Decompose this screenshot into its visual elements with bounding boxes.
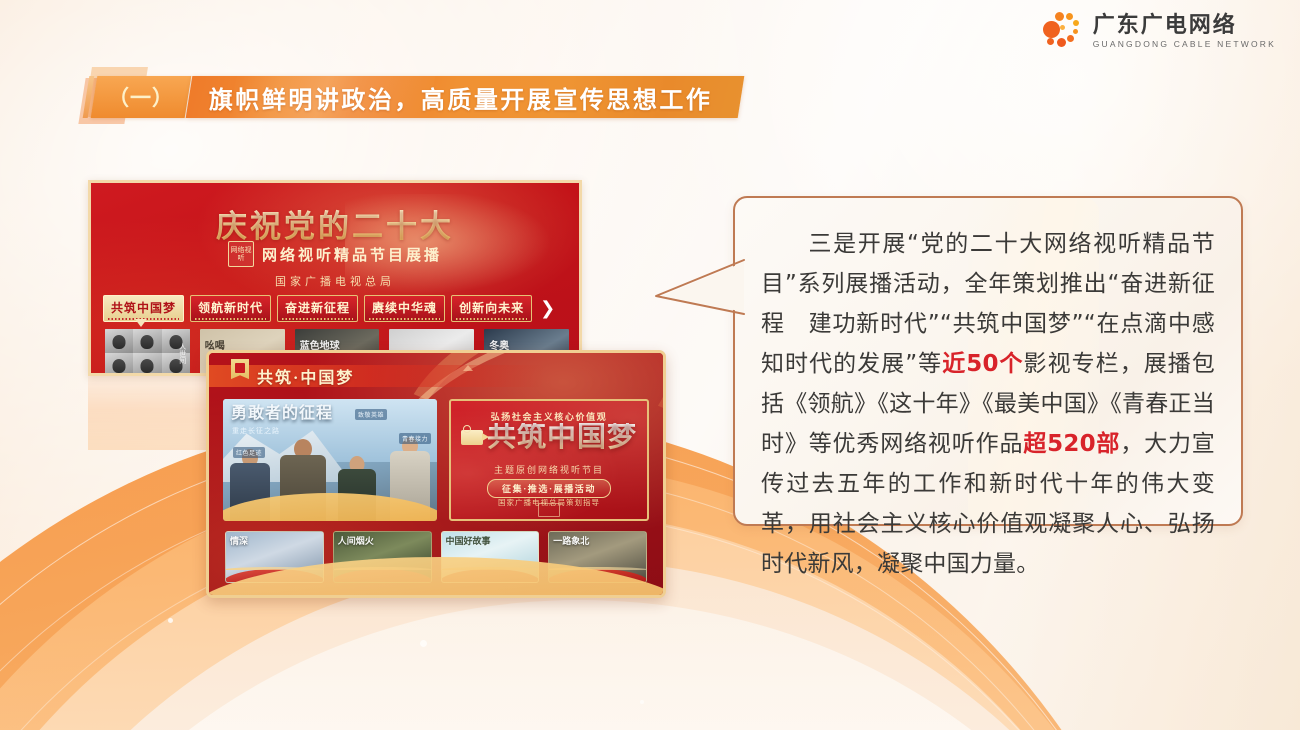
- callout-paragraph: 三是开展“党的二十大网络视听精品节目”系列展播活动，全年策划推出“奋进新征程 建…: [735, 198, 1241, 584]
- section-number-badge: （一）: [91, 76, 192, 118]
- tab-dot-underline: [195, 318, 266, 320]
- callout-box: 三是开展“党的二十大网络视听精品节目”系列展播活动，全年策划推出“奋进新征程 建…: [733, 196, 1243, 526]
- card-line-3: 主题原创网络视听节目: [451, 463, 647, 476]
- active-tab-caret-icon: [135, 319, 147, 327]
- tab-label: 共筑中国梦: [111, 301, 176, 315]
- thumbnail-title: 中国好故事: [446, 537, 491, 547]
- tab-dot-underline: [456, 318, 527, 320]
- tab-label: 奋进新征程: [285, 301, 350, 315]
- poster-subtitle: 重走长征之路: [232, 426, 280, 436]
- thumbnail-side-label: 人世间: [177, 332, 187, 374]
- tab-gengxu-zhonghuahun[interactable]: 赓续中华魂: [364, 295, 445, 322]
- tab-dot-underline: [282, 318, 353, 320]
- section-title-bar: 旗帜鲜明讲政治，高质量开展宣传思想工作: [186, 76, 744, 118]
- screenshot-front-header-title: 共筑·中国梦: [257, 364, 354, 388]
- screenshot-back-panel[interactable]: 庆祝党的二十大 网络视听 网络视听精品节目展播 国家广播电视总局 共筑中国梦 领…: [88, 180, 582, 376]
- logo-mark-icon: [1042, 10, 1084, 52]
- screenshot-back-organization: 国家广播电视总局: [91, 273, 579, 289]
- screenshot-back-subtitle: 网络视听精品节目展播: [262, 244, 442, 265]
- logo-text: 广东广电网络 GUANGDONG CABLE NETWORK: [1093, 14, 1276, 49]
- slide-canvas: 广东广电网络 GUANGDONG CABLE NETWORK （一） 旗帜鲜明讲…: [0, 0, 1300, 730]
- card-seal-icon: [538, 503, 560, 517]
- card-activity-pill: 征集·推选·展播活动: [487, 479, 611, 498]
- highlighted-figure: 近50个: [942, 351, 1023, 377]
- callout-pointer-tail: [652, 256, 738, 312]
- thumbnail-portrait-grid[interactable]: 人世间: [105, 329, 190, 376]
- background-spark-3: [640, 700, 644, 704]
- tab-fenjin-xinzhengcheng[interactable]: 奋进新征程: [277, 295, 358, 322]
- poster-tag-3: 青春接力: [399, 433, 431, 444]
- campaign-card[interactable]: 弘扬社会主义核心价值观 共筑中国梦 主题原创网络视听节目 征集·推选·展播活动 …: [449, 399, 649, 521]
- highlighted-figure: 超520部: [1023, 431, 1120, 457]
- logo-name-cn: 广东广电网络: [1093, 14, 1276, 36]
- film-camera-icon: [461, 430, 483, 445]
- tab-dot-underline: [369, 318, 440, 320]
- next-arrow-icon[interactable]: ❯: [540, 298, 555, 319]
- section-title-banner: （一） 旗帜鲜明讲政治，高质量开展宣传思想工作: [86, 76, 741, 118]
- tab-label: 赓续中华魂: [372, 301, 437, 315]
- thumbnail-title: 情深: [230, 537, 248, 547]
- feature-poster[interactable]: 勇敢者的征程 重走长征之路 致敬英雄 红色足迹 青春接力: [223, 399, 437, 521]
- poster-tag-2: 红色足迹: [233, 447, 265, 458]
- header-caret-icon: [463, 365, 473, 371]
- thumbnail-title: 人间烟火: [338, 537, 374, 547]
- screenshot-back-title: 庆祝党的二十大: [91, 201, 579, 246]
- screenshot-back-subtitle-row: 网络视听 网络视听精品节目展播: [91, 241, 579, 267]
- section-number-label: （一）: [108, 82, 174, 112]
- poster-title: 勇敢者的征程: [231, 406, 333, 423]
- background-spark-2: [420, 640, 427, 647]
- screenshot-front-main-row: 勇敢者的征程 重走长征之路 致敬英雄 红色足迹 青春接力 弘扬社会主义核心价值观…: [223, 399, 649, 521]
- thumbnail-title: 一路象北: [553, 537, 589, 547]
- tab-gongzhu-zhongguomeng[interactable]: 共筑中国梦: [103, 295, 184, 322]
- section-title-text: 旗帜鲜明讲政治，高质量开展宣传思想工作: [209, 80, 713, 115]
- seal-stamp-icon: 网络视听: [228, 241, 254, 267]
- card-main-title: 共筑中国梦: [487, 423, 637, 452]
- card-title-row: 共筑中国梦: [451, 423, 647, 452]
- tab-label: 创新向未来: [459, 301, 524, 315]
- tab-label: 领航新时代: [198, 301, 263, 315]
- screenshot-back-tab-bar[interactable]: 共筑中国梦 领航新时代 奋进新征程 赓续中华魂 创新向未来 ❯: [103, 295, 571, 322]
- poster-tag-1: 致敬英雄: [355, 409, 387, 420]
- background-spark-1: [168, 618, 173, 623]
- tab-linghang-xinshidai[interactable]: 领航新时代: [190, 295, 271, 322]
- screenshot-front-panel[interactable]: 共筑·中国梦: [206, 350, 666, 598]
- tab-chuangxin-xiangweilai[interactable]: 创新向未来: [451, 295, 532, 322]
- logo-name-en: GUANGDONG CABLE NETWORK: [1093, 40, 1276, 49]
- brand-logo: 广东广电网络 GUANGDONG CABLE NETWORK: [1042, 10, 1276, 52]
- screenshot-front-header: 共筑·中国梦: [209, 361, 663, 391]
